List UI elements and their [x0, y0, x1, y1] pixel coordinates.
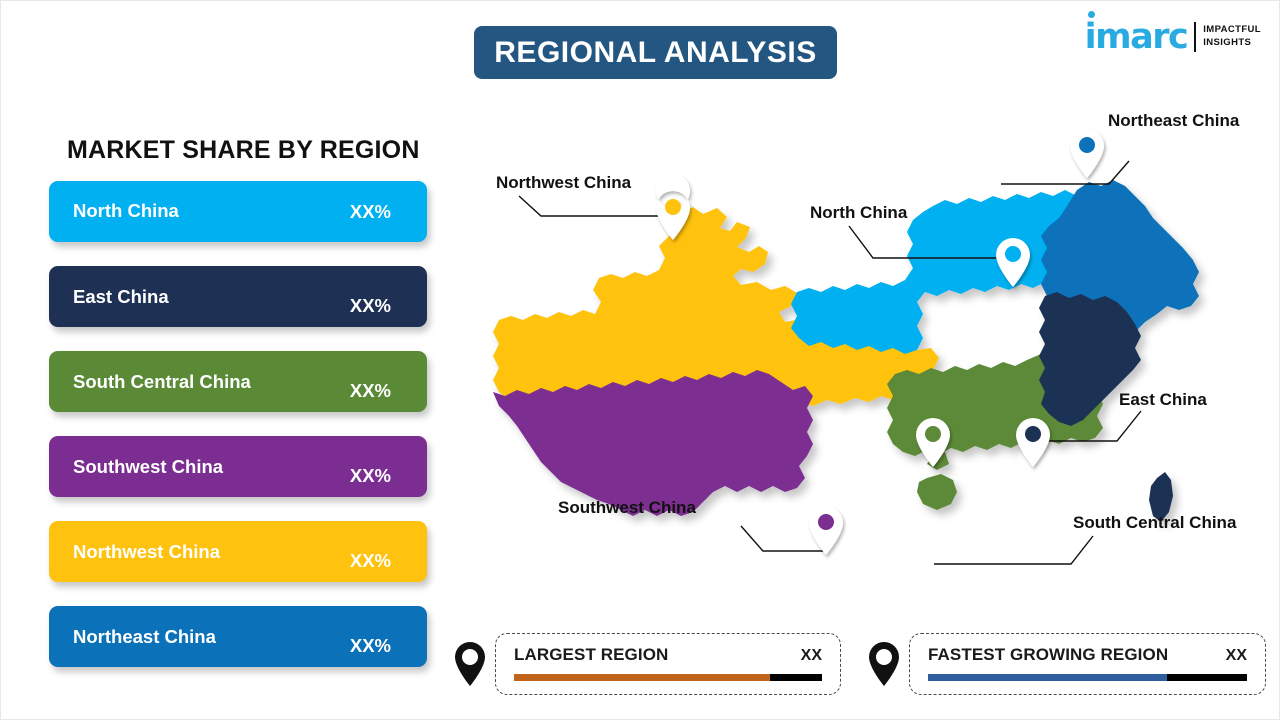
share-row-value: XX%: [350, 295, 391, 317]
logo-tagline: IMPACTFUL INSIGHTS: [1203, 24, 1261, 50]
share-row-label: North China: [73, 200, 179, 222]
share-row-east-china[interactable]: East China XX%: [49, 266, 427, 327]
logo-word-text: imarc: [1085, 17, 1188, 57]
leader-line-southcentral: [934, 536, 1093, 564]
location-pin-icon: [867, 641, 901, 687]
map-label-east-china: East China: [1119, 390, 1207, 410]
share-row-northwest-china[interactable]: Northwest China XX%: [49, 521, 427, 582]
largest-region-legend: LARGEST REGION XX: [453, 633, 841, 695]
map-label-southwest-china: Southwest China: [558, 498, 696, 518]
share-row-southwest-china[interactable]: Southwest China XX%: [49, 436, 427, 497]
map-region-southwest-china: [493, 370, 813, 516]
share-row-label: Northwest China: [73, 541, 220, 563]
fastest-growing-region-bar: [928, 674, 1247, 681]
map-label-north-china: North China: [810, 203, 907, 223]
largest-region-bar-fill: [514, 674, 770, 681]
share-row-label: East China: [73, 286, 169, 308]
map-pin-east-china: [1016, 418, 1050, 467]
largest-region-box: LARGEST REGION XX: [495, 633, 841, 695]
map-pin-southwest-china: [809, 506, 843, 555]
map-pin-northeast-china: [1070, 129, 1104, 178]
share-row-value: XX%: [350, 550, 391, 572]
share-row-value: XX%: [350, 380, 391, 402]
map-label-south-central-china: South Central China: [1073, 513, 1236, 533]
leader-line-northeast: [1001, 161, 1129, 184]
imarc-logo: imarc IMPACTFUL INSIGHTS: [1085, 15, 1261, 59]
map-region-hainan: [917, 474, 957, 510]
share-row-value: XX%: [350, 465, 391, 487]
fastest-growing-region-value: XX: [1226, 647, 1247, 665]
map-label-northeast-china: Northeast China: [1108, 111, 1239, 131]
fastest-growing-region-legend: FASTEST GROWING REGION XX: [867, 633, 1266, 695]
logo-tagline-line1: IMPACTFUL: [1203, 24, 1261, 37]
map-label-northwest-china: Northwest China: [496, 173, 631, 193]
page-title: REGIONAL ANALYSIS: [494, 36, 816, 70]
share-row-label: South Central China: [73, 371, 251, 393]
share-row-value: XX%: [350, 201, 391, 223]
china-regional-map: [441, 86, 1280, 616]
share-row-south-central-china[interactable]: South Central China XX%: [49, 351, 427, 412]
market-share-panel: MARKET SHARE BY REGION North China XX% E…: [49, 136, 429, 691]
largest-region-title: LARGEST REGION: [514, 645, 668, 665]
fastest-growing-region-title: FASTEST GROWING REGION: [928, 645, 1168, 665]
logo-wordmark: imarc: [1085, 20, 1188, 55]
location-pin-icon: [453, 641, 487, 687]
fastest-growing-region-box: FASTEST GROWING REGION XX: [909, 633, 1266, 695]
logo-dot-icon: [1088, 11, 1095, 18]
leader-line-northwest: [519, 196, 680, 216]
largest-region-value: XX: [801, 647, 822, 665]
logo-divider: [1194, 22, 1196, 52]
share-row-label: Northeast China: [73, 626, 216, 648]
fastest-growing-region-bar-fill: [928, 674, 1167, 681]
share-row-label: Southwest China: [73, 456, 223, 478]
page-title-banner: REGIONAL ANALYSIS: [474, 26, 837, 79]
slide-canvas: REGIONAL ANALYSIS imarc IMPACTFUL INSIGH…: [0, 0, 1280, 720]
share-row-value: XX%: [350, 635, 391, 657]
largest-region-bar: [514, 674, 822, 681]
logo-tagline-line2: INSIGHTS: [1203, 37, 1261, 50]
sidebar-title: MARKET SHARE BY REGION: [67, 136, 429, 165]
share-row-northeast-china[interactable]: Northeast China XX%: [49, 606, 427, 667]
share-row-north-china[interactable]: North China XX%: [49, 181, 427, 242]
